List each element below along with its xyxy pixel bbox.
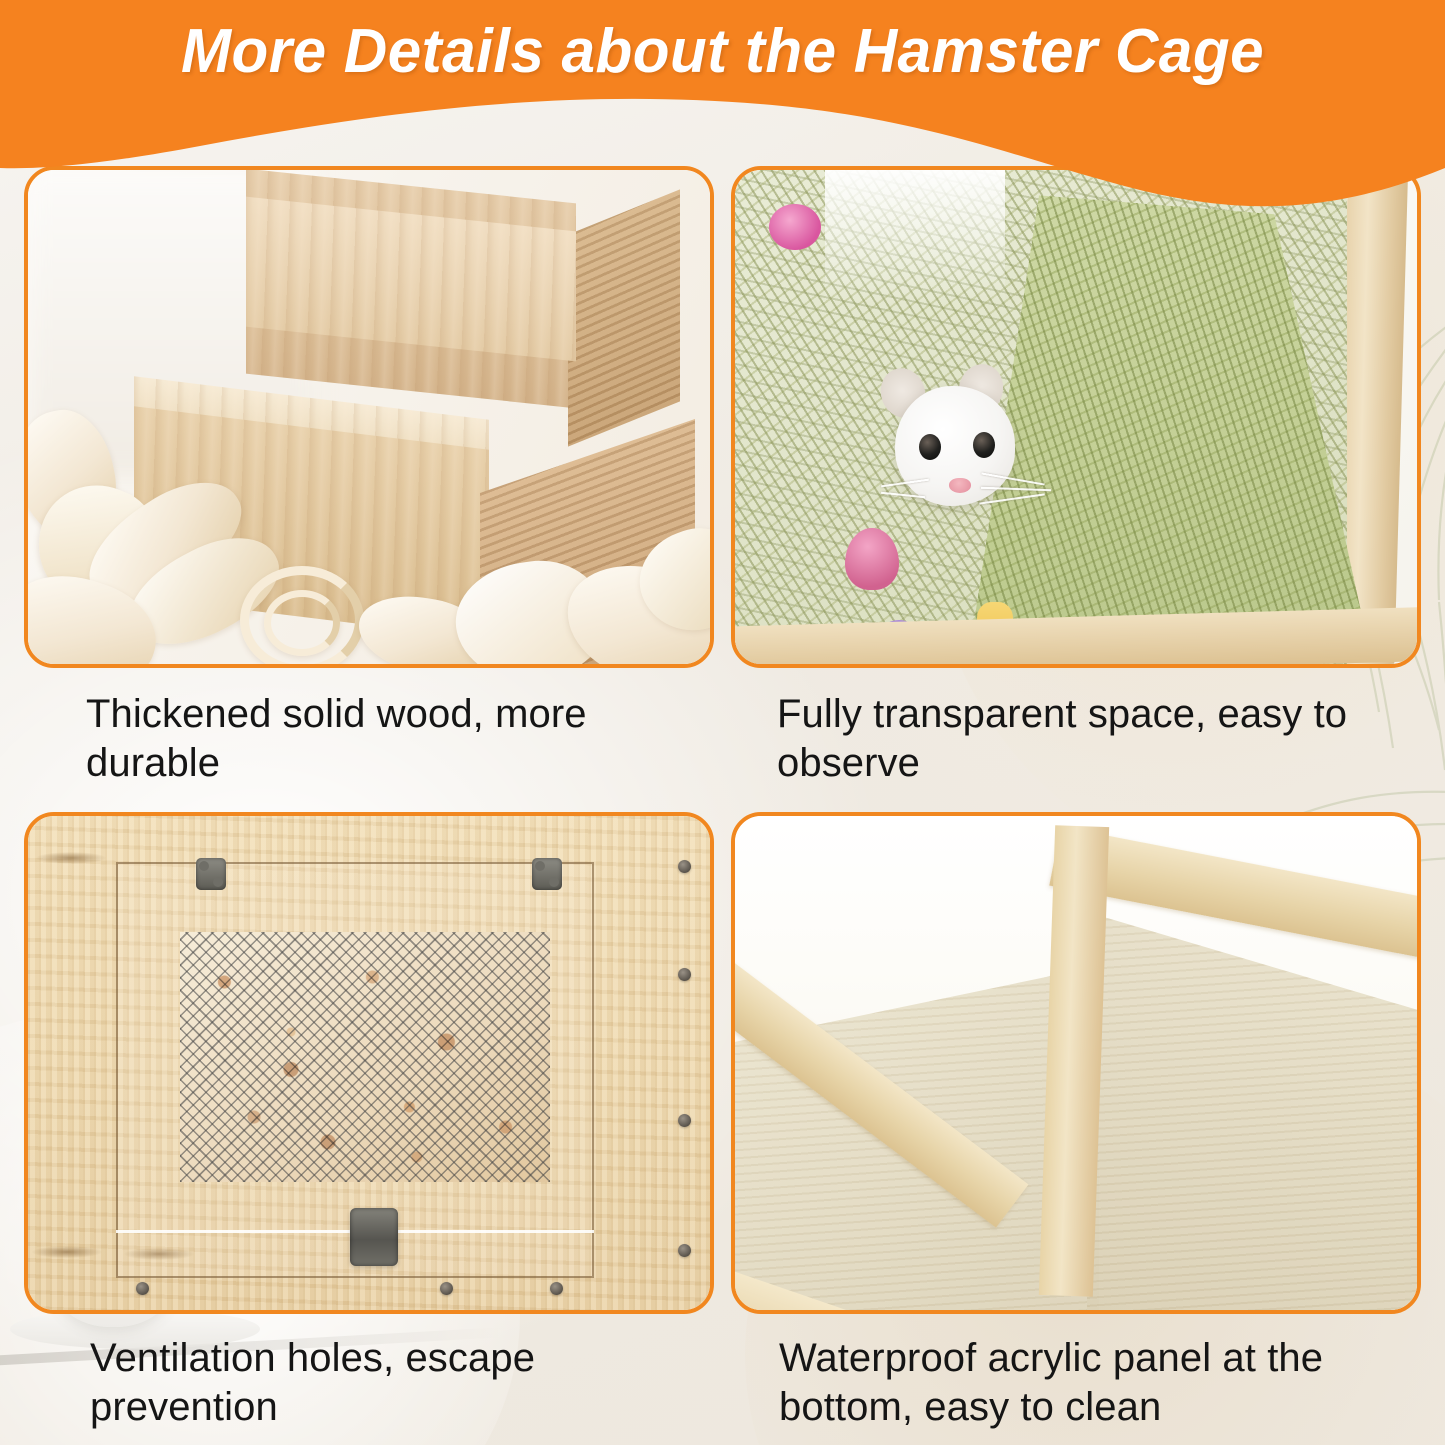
feature-image-frame[interactable]: [731, 812, 1421, 1314]
feature-image-frame[interactable]: [24, 166, 714, 668]
latch-icon[interactable]: [350, 1208, 398, 1266]
acrylic-bottom-panel-photo: [735, 816, 1417, 1310]
feature-caption: Fully transparent space, easy to observe: [731, 690, 1421, 788]
feature-card-thickened-solid-wood[interactable]: Thickened solid wood, more durable: [24, 166, 714, 788]
screw-icon: [136, 1282, 149, 1295]
screw-icon: [440, 1282, 453, 1295]
feature-caption: Ventilation holes, escape prevention: [24, 1334, 714, 1432]
screw-icon: [678, 968, 691, 981]
hamster: [885, 370, 1045, 530]
screw-icon: [678, 1114, 691, 1127]
hinge-icon: [196, 858, 226, 890]
header-banner: More Details about the Hamster Cage: [0, 0, 1445, 210]
page-title: More Details about the Hamster Cage: [22, 16, 1424, 87]
feature-card-fully-transparent-space[interactable]: Fully transparent space, easy to observe: [731, 166, 1421, 788]
feature-grid: Thickened solid wood, more durable: [0, 0, 1445, 1445]
feature-caption: Thickened solid wood, more durable: [24, 690, 714, 788]
screw-icon: [678, 860, 691, 873]
feature-card-waterproof-acrylic-panel[interactable]: Waterproof acrylic panel at the bottom, …: [731, 812, 1421, 1432]
feature-card-ventilation-holes[interactable]: Ventilation holes, escape prevention: [24, 812, 714, 1432]
feature-image-frame[interactable]: [24, 812, 714, 1314]
screw-icon: [678, 1244, 691, 1257]
ventilation-door-photo: [28, 816, 710, 1310]
screw-icon: [550, 1282, 563, 1295]
hamster-in-hay-photo: [735, 170, 1417, 664]
feature-image-frame[interactable]: [731, 166, 1421, 668]
feature-caption: Waterproof acrylic panel at the bottom, …: [731, 1334, 1421, 1432]
wood-blocks-photo: [28, 170, 710, 664]
product-detail-page: More Details about the Hamster Cage: [0, 0, 1445, 1445]
hinge-icon: [532, 858, 562, 890]
